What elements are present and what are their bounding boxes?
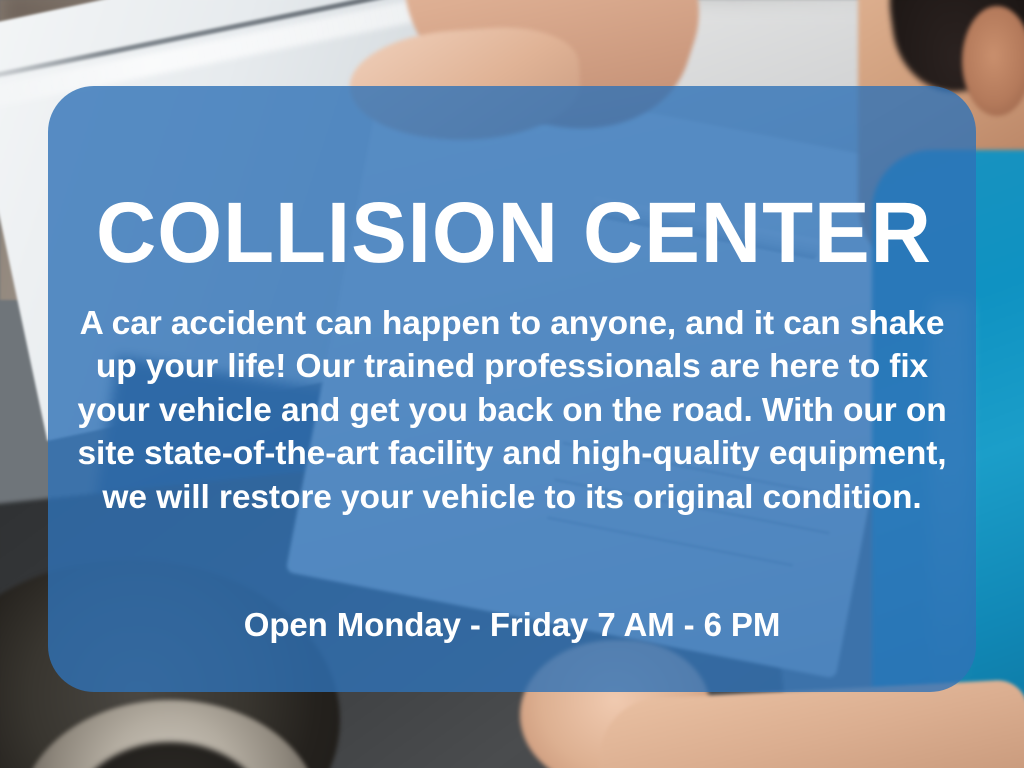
slide-canvas: COLLISION CENTER A car accident can happ…	[0, 0, 1024, 768]
info-panel: COLLISION CENTER A car accident can happ…	[48, 86, 976, 692]
photo-person-ear	[962, 6, 1024, 116]
page-title: COLLISION CENTER	[96, 190, 903, 276]
description-text: A car accident can happen to anyone, and…	[74, 302, 950, 520]
business-hours-text: Open Monday - Friday 7 AM - 6 PM	[74, 605, 950, 645]
